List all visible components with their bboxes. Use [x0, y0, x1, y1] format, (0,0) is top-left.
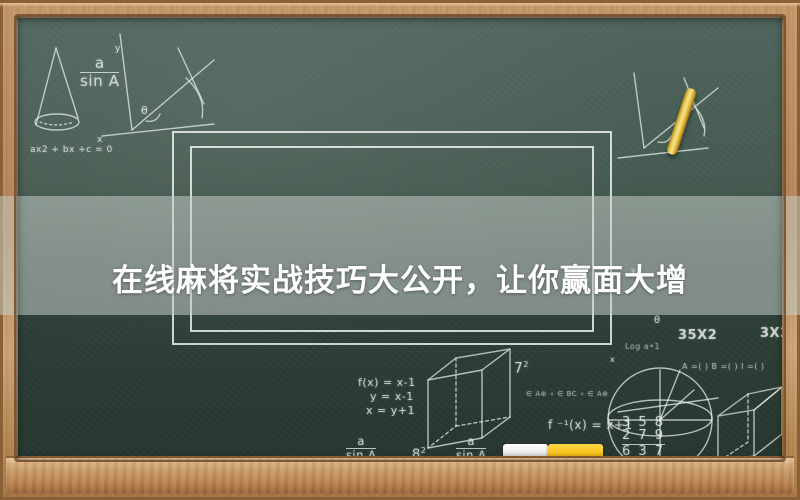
chalkboard-banner: a sin A ax2 + bx +c = 0 y x θ f(x) = x-1… [0, 0, 800, 500]
frame-inner-shadow [16, 16, 784, 460]
frame-top-bevel [0, 3, 800, 7]
chalk-ledge [6, 456, 794, 494]
